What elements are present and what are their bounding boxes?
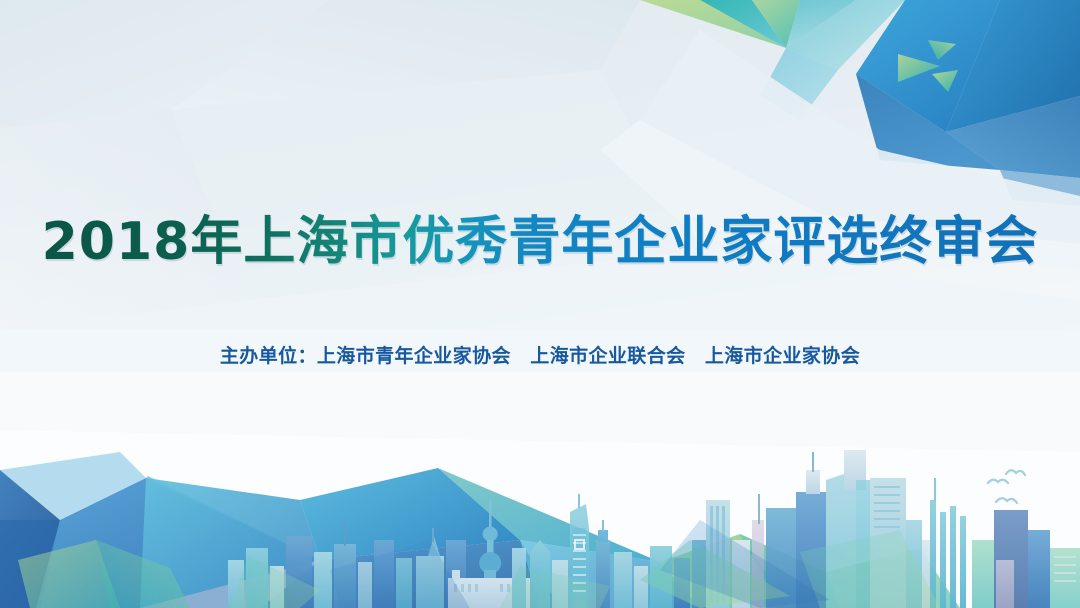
floating-triangle-2 [928, 40, 956, 60]
page-title: 2018年上海市优秀青年企业家评选终审会 [42, 213, 1039, 273]
subtitle-container: 主办单位：上海市青年企业家协会 上海市企业联合会 上海市企业家协会 [0, 322, 1080, 387]
poster-canvas: 2018年上海市优秀青年企业家评选终审会 主办单位：上海市青年企业家协会 上海市… [0, 0, 1080, 608]
floating-triangle-3 [932, 70, 958, 92]
organizer-line: 主办单位：上海市青年企业家协会 上海市企业联合会 上海市企业家协会 [220, 341, 860, 368]
floating-triangle-1 [898, 54, 940, 82]
oriental-pearl-tower [478, 500, 502, 608]
shanghai-tower [570, 494, 589, 608]
title-container: 2018年上海市优秀青年企业家评选终审会 [0, 178, 1080, 307]
birds-decoration [988, 470, 1025, 503]
